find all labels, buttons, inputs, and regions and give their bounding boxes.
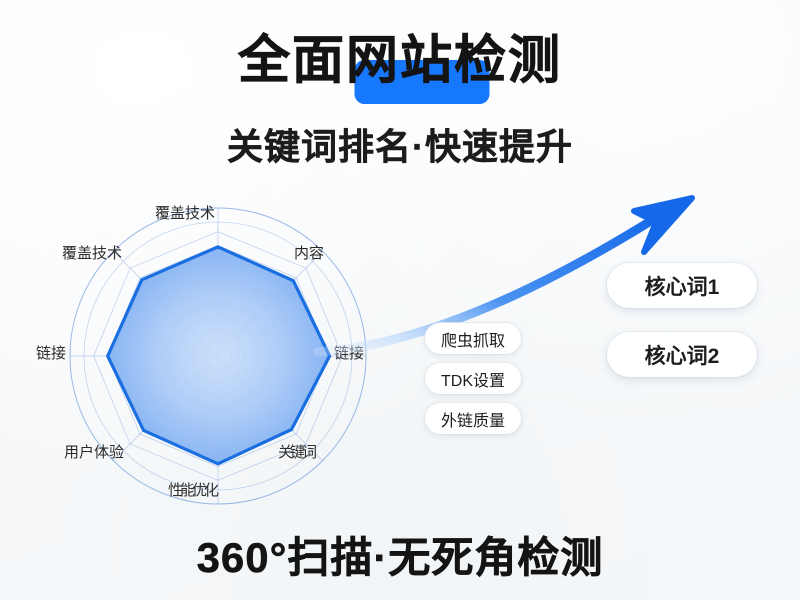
page-title: 全面网站检测 [0, 34, 800, 89]
radar-axis-label-lower-right: 关键词 [278, 441, 314, 462]
radar-axis-label-bottom: 性能优化 [168, 479, 216, 500]
title-block: 全面网站检测 [0, 34, 800, 89]
poster-canvas: 全面网站检测 关键词排名·快速提升 覆盖技术 内容 链接 关键词 性能优化 用户… [0, 0, 800, 600]
radar-axis-label-left: 链接 [36, 342, 66, 363]
check-tag-tdk[interactable]: TDK设置 [425, 363, 521, 394]
keyword-tag-2[interactable]: 核心词2 [607, 332, 757, 377]
page-subtitle: 关键词排名·快速提升 [0, 118, 800, 170]
radar-axis-label-upper-left: 覆盖技术 [62, 242, 122, 263]
keyword-tag-1[interactable]: 核心词1 [607, 263, 757, 308]
check-tag-crawler[interactable]: 爬虫抓取 [425, 323, 521, 354]
footer-tagline: 360°扫描·无死角检测 [0, 524, 800, 585]
radar-axis-label-lower-left: 用户体验 [64, 441, 124, 462]
check-tag-backlink[interactable]: 外链质量 [425, 403, 521, 434]
radar-axis-label-top: 覆盖技术 [155, 202, 215, 223]
